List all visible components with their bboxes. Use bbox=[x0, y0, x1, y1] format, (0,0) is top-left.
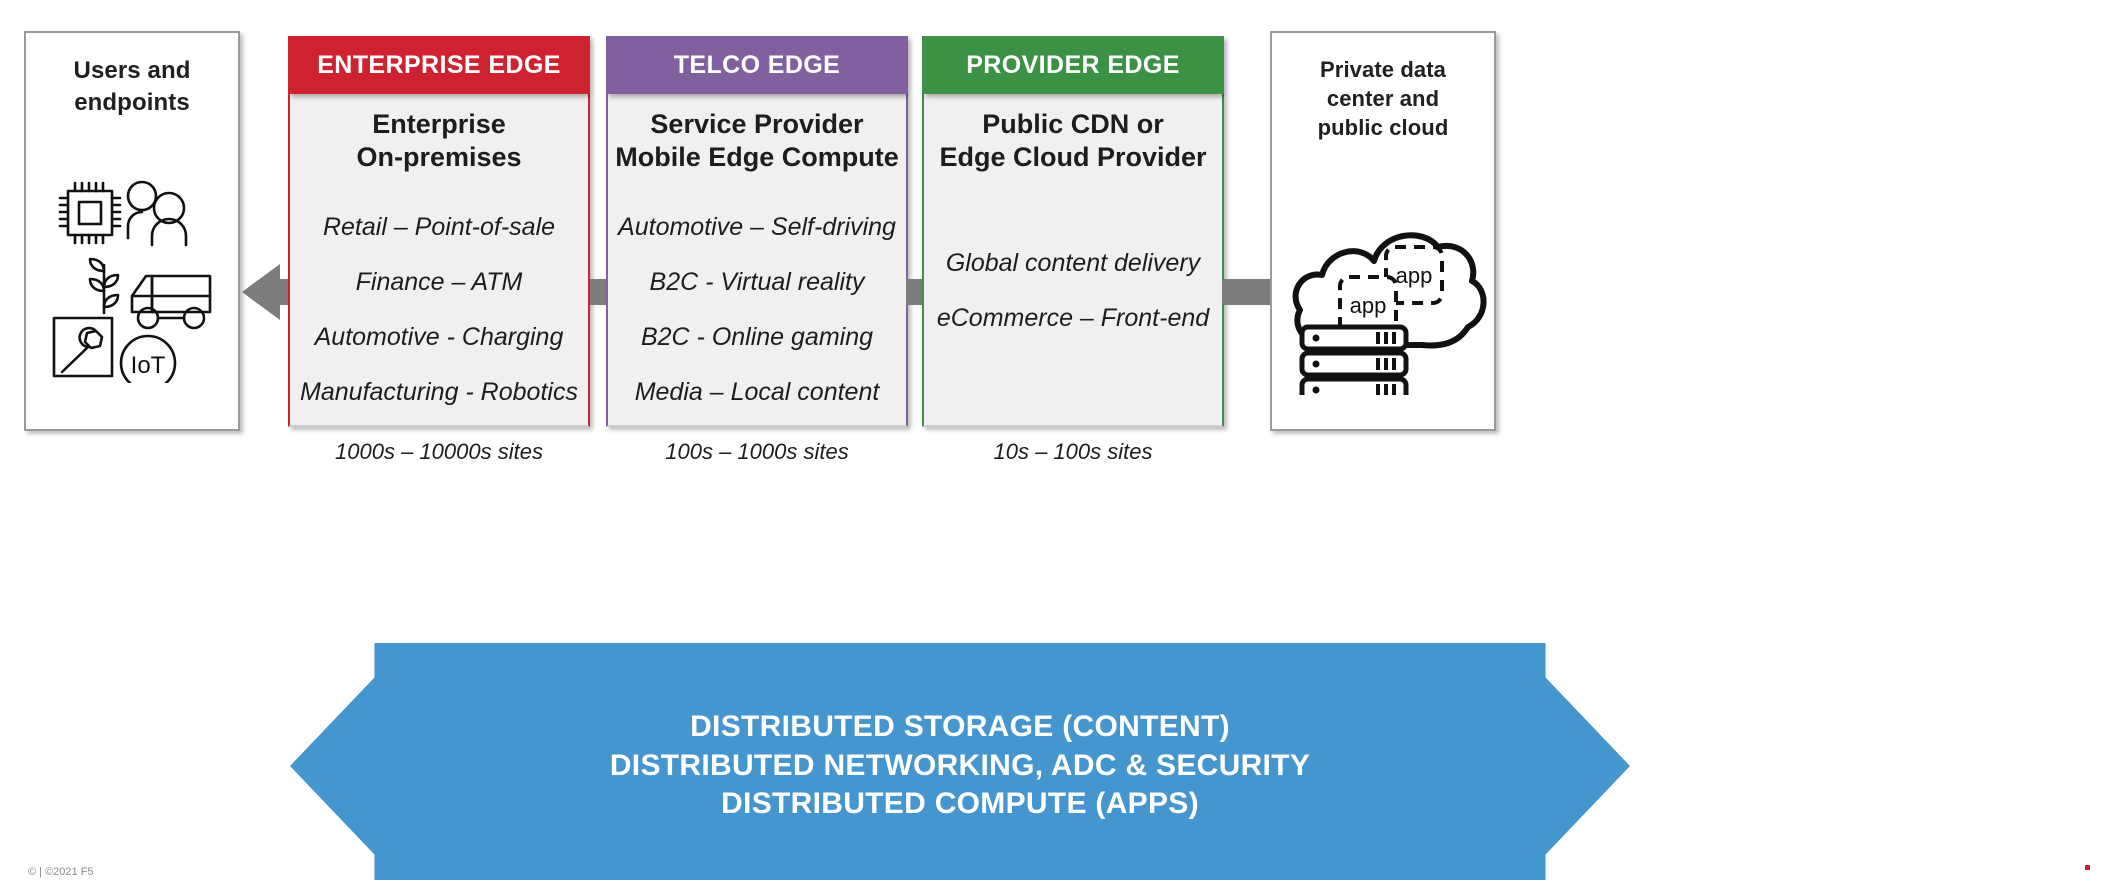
column-telco-edge: TELCO EDGE Service Provider Mobile Edge … bbox=[606, 36, 908, 465]
list-item: Media – Local content bbox=[608, 365, 906, 420]
enterprise-edge-site-count: 1000s – 10000s sites bbox=[288, 439, 590, 465]
people-icon bbox=[128, 182, 186, 245]
list-item: Finance – ATM bbox=[290, 255, 588, 310]
arrow-line-2: DISTRIBUTED NETWORKING, ADC & SECURITY bbox=[610, 747, 1310, 785]
corner-accent-mark bbox=[2085, 865, 2090, 870]
list-item: Retail – Point-of-sale bbox=[290, 200, 588, 255]
provider-edge-header: PROVIDER EDGE bbox=[922, 36, 1224, 94]
arrow-line-1: DISTRIBUTED STORAGE (CONTENT) bbox=[690, 708, 1230, 746]
private-dc-public-cloud-panel: Private data center and public cloud app… bbox=[1270, 31, 1496, 431]
telco-edge-header: TELCO EDGE bbox=[606, 36, 908, 94]
provider-edge-usecase-list: Global content delivery eCommerce – Fron… bbox=[924, 236, 1222, 346]
enterprise-edge-header-label: ENTERPRISE EDGE bbox=[317, 51, 561, 79]
cloud-title-line-1: Private data bbox=[1272, 55, 1494, 84]
list-item: B2C - Online gaming bbox=[608, 310, 906, 365]
app-label-top: app bbox=[1396, 263, 1433, 288]
users-and-endpoints-panel: Users and endpoints bbox=[24, 31, 240, 431]
provider-edge-body: Public CDN or Edge Cloud Provider Global… bbox=[922, 94, 1224, 427]
cloud-datacenter-svg: app app bbox=[1272, 185, 1498, 395]
enterprise-subtitle-line-2: On-premises bbox=[290, 141, 588, 174]
arrow-line-3: DISTRIBUTED COMPUTE (APPS) bbox=[721, 785, 1199, 823]
list-item: eCommerce – Front-end bbox=[924, 291, 1222, 346]
list-item: B2C - Virtual reality bbox=[608, 255, 906, 310]
connector-provider-cloud bbox=[1222, 279, 1274, 305]
telco-subtitle-line-2: Mobile Edge Compute bbox=[608, 141, 906, 174]
list-item: Manufacturing - Robotics bbox=[290, 365, 588, 420]
iot-label: IoT bbox=[131, 352, 166, 379]
provider-edge-site-count: 10s – 100s sites bbox=[922, 439, 1224, 465]
users-and-endpoints-title: Users and endpoints bbox=[26, 33, 238, 118]
wrench-panel-icon bbox=[54, 318, 112, 376]
private-dc-title: Private data center and public cloud bbox=[1272, 33, 1494, 142]
users-endpoint-icon-group: IoT bbox=[26, 163, 238, 383]
chip-icon bbox=[60, 183, 120, 243]
provider-edge-subtitle: Public CDN or Edge Cloud Provider bbox=[924, 108, 1222, 174]
provider-subtitle-line-1: Public CDN or bbox=[924, 108, 1222, 141]
enterprise-edge-header: ENTERPRISE EDGE bbox=[288, 36, 590, 94]
cloud-datacenter-icon-group: app app bbox=[1272, 185, 1494, 395]
users-title-line-1: Users and bbox=[26, 55, 238, 87]
enterprise-edge-body: Enterprise On-premises Retail – Point-of… bbox=[288, 94, 590, 427]
telco-edge-body: Service Provider Mobile Edge Compute Aut… bbox=[606, 94, 908, 427]
truck-icon bbox=[132, 276, 210, 328]
footer-copyright: © | ©2021 F5 bbox=[28, 866, 94, 878]
plant-icon bbox=[90, 259, 118, 313]
column-enterprise-edge: ENTERPRISE EDGE Enterprise On-premises R… bbox=[288, 36, 590, 465]
cloud-title-line-2: center and bbox=[1272, 84, 1494, 113]
distributed-services-arrow: DISTRIBUTED STORAGE (CONTENT) DISTRIBUTE… bbox=[290, 643, 1630, 880]
cloud-title-line-3: public cloud bbox=[1272, 113, 1494, 142]
telco-edge-usecase-list: Automotive – Self-driving B2C - Virtual … bbox=[608, 200, 906, 420]
telco-edge-header-label: TELCO EDGE bbox=[674, 51, 841, 79]
slide-canvas: Users and endpoints bbox=[0, 0, 2112, 880]
telco-edge-subtitle: Service Provider Mobile Edge Compute bbox=[608, 108, 906, 174]
list-item: Automotive - Charging bbox=[290, 310, 588, 365]
enterprise-edge-usecase-list: Retail – Point-of-sale Finance – ATM Aut… bbox=[290, 200, 588, 420]
users-title-line-2: endpoints bbox=[26, 87, 238, 119]
endpoint-icons-svg: IoT bbox=[26, 163, 242, 383]
provider-edge-header-label: PROVIDER EDGE bbox=[966, 51, 1180, 79]
telco-edge-site-count: 100s – 1000s sites bbox=[606, 439, 908, 465]
app-label-bottom: app bbox=[1350, 293, 1387, 318]
list-item: Automotive – Self-driving bbox=[608, 200, 906, 255]
provider-subtitle-line-2: Edge Cloud Provider bbox=[924, 141, 1222, 174]
column-provider-edge: PROVIDER EDGE Public CDN or Edge Cloud P… bbox=[922, 36, 1224, 465]
list-item: Global content delivery bbox=[924, 236, 1222, 291]
enterprise-subtitle-line-1: Enterprise bbox=[290, 108, 588, 141]
enterprise-edge-subtitle: Enterprise On-premises bbox=[290, 108, 588, 174]
telco-subtitle-line-1: Service Provider bbox=[608, 108, 906, 141]
